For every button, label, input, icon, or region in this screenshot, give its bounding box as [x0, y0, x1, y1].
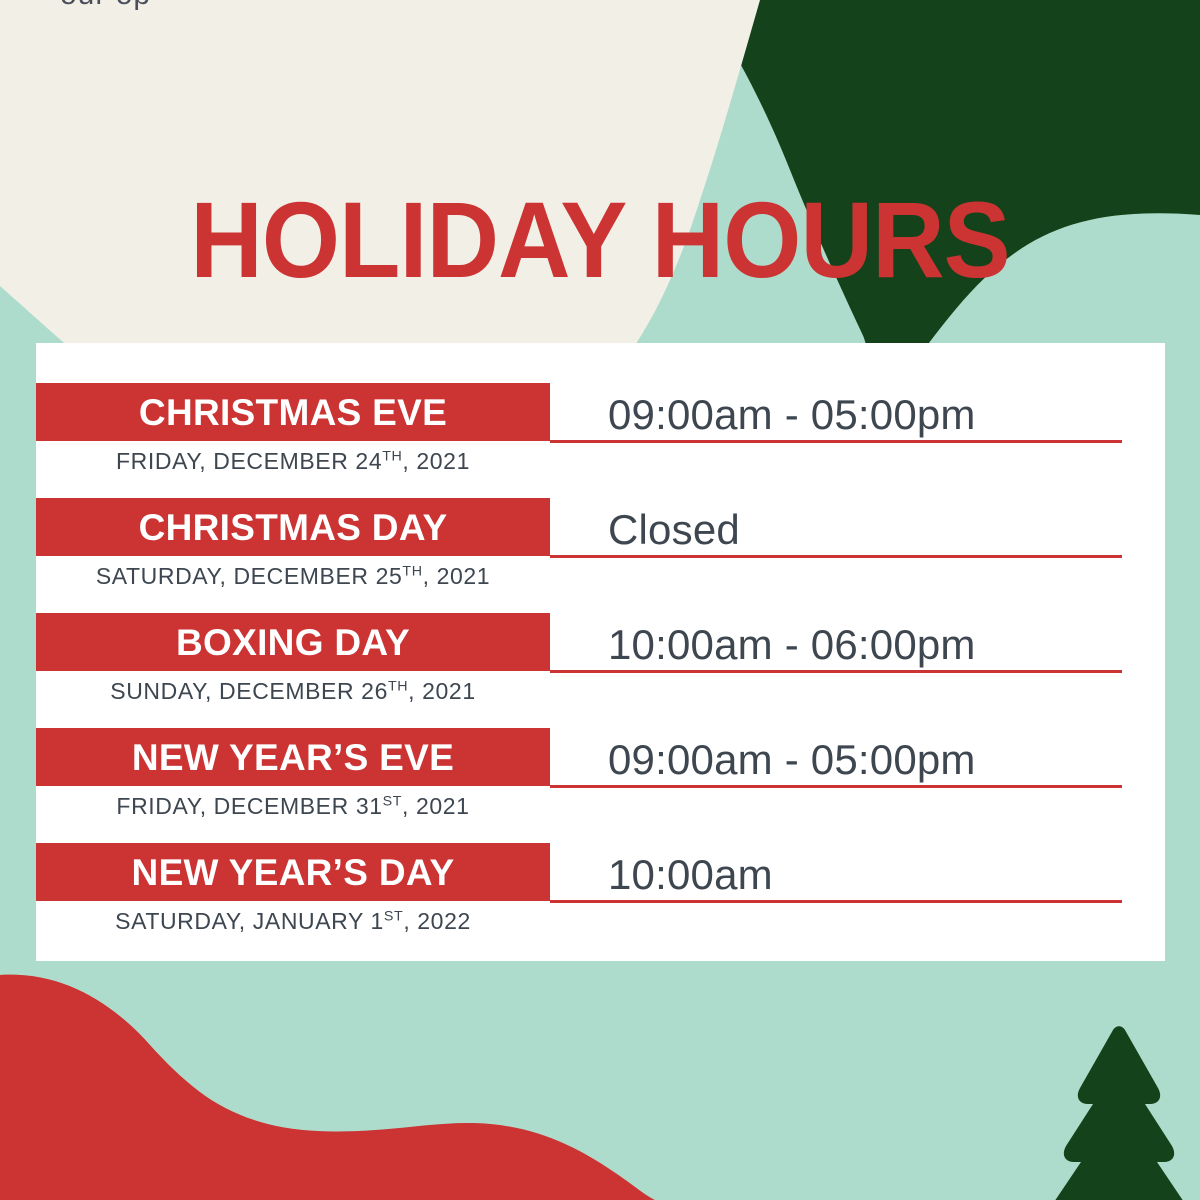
- day-date-ordinal: ST: [384, 908, 403, 924]
- christmas-tree-icon: [1047, 1026, 1191, 1200]
- hours-row: NEW YEAR’S DAY SATURDAY, JANUARY 1ST, 20…: [36, 843, 1165, 958]
- page-title: HOLIDAY HOURS: [42, 186, 1158, 294]
- hours-row: NEW YEAR’S EVE FRIDAY, DECEMBER 31ST, 20…: [36, 728, 1165, 843]
- day-date-ordinal: TH: [402, 563, 422, 579]
- hours-row: BOXING DAY SUNDAY, DECEMBER 26TH, 2021 1…: [36, 613, 1165, 728]
- clipped-top-text: our op: [60, 0, 151, 12]
- hours-row: CHRISTMAS EVE FRIDAY, DECEMBER 24TH, 202…: [36, 383, 1165, 498]
- day-date: FRIDAY, DECEMBER 24TH, 2021: [36, 450, 550, 473]
- day-date-prefix: SATURDAY, DECEMBER 25: [96, 563, 403, 589]
- day-date-prefix: SATURDAY, JANUARY 1: [115, 908, 384, 934]
- hours-row-time-group: 09:00am - 05:00pm: [550, 383, 1122, 443]
- day-name-banner: CHRISTMAS EVE: [36, 383, 550, 441]
- day-date-year: , 2021: [408, 678, 476, 704]
- day-date-ordinal: ST: [383, 793, 402, 809]
- day-time: 09:00am - 05:00pm: [608, 739, 976, 781]
- day-time: 09:00am - 05:00pm: [608, 394, 976, 436]
- hours-row-time-group: 10:00am - 06:00pm: [550, 613, 1122, 673]
- hours-row-time-group: 09:00am - 05:00pm: [550, 728, 1122, 788]
- day-name-banner: BOXING DAY: [36, 613, 550, 671]
- day-date-prefix: SUNDAY, DECEMBER 26: [110, 678, 388, 704]
- hours-card: CHRISTMAS EVE FRIDAY, DECEMBER 24TH, 202…: [36, 343, 1165, 961]
- day-name: NEW YEAR’S DAY: [132, 854, 455, 891]
- day-name-banner: CHRISTMAS DAY: [36, 498, 550, 556]
- day-date: SATURDAY, JANUARY 1ST, 2022: [36, 910, 550, 933]
- day-name-banner: NEW YEAR’S DAY: [36, 843, 550, 901]
- day-date-year: , 2021: [402, 448, 470, 474]
- day-date-year: , 2021: [402, 793, 470, 819]
- hours-row-label-group: CHRISTMAS DAY SATURDAY, DECEMBER 25TH, 2…: [36, 498, 550, 588]
- day-name: CHRISTMAS DAY: [139, 509, 448, 546]
- day-date-prefix: FRIDAY, DECEMBER 24: [116, 448, 382, 474]
- day-date-prefix: FRIDAY, DECEMBER 31: [116, 793, 382, 819]
- holiday-hours-poster: our op HOLIDAY HOURS CHRISTMAS EVE FRIDA…: [0, 0, 1200, 1200]
- hours-row-time-group: Closed: [550, 498, 1122, 558]
- hours-row-label-group: NEW YEAR’S DAY SATURDAY, JANUARY 1ST, 20…: [36, 843, 550, 933]
- day-date-year: , 2021: [423, 563, 491, 589]
- day-time: 10:00am - 06:00pm: [608, 624, 976, 666]
- hours-row-time-group: 10:00am: [550, 843, 1122, 903]
- hours-row-label-group: CHRISTMAS EVE FRIDAY, DECEMBER 24TH, 202…: [36, 383, 550, 473]
- day-date-year: , 2022: [403, 908, 471, 934]
- day-name: BOXING DAY: [176, 624, 410, 661]
- day-name: CHRISTMAS EVE: [139, 394, 447, 431]
- day-date: FRIDAY, DECEMBER 31ST, 2021: [36, 795, 550, 818]
- hours-list: CHRISTMAS EVE FRIDAY, DECEMBER 24TH, 202…: [36, 343, 1165, 961]
- hours-row: CHRISTMAS DAY SATURDAY, DECEMBER 25TH, 2…: [36, 498, 1165, 613]
- red-wave-shape-body: [0, 975, 720, 1200]
- day-time: Closed: [608, 509, 740, 551]
- day-date: SATURDAY, DECEMBER 25TH, 2021: [36, 565, 550, 588]
- day-date-ordinal: TH: [388, 678, 408, 694]
- day-name-banner: NEW YEAR’S EVE: [36, 728, 550, 786]
- day-date-ordinal: TH: [382, 448, 402, 464]
- hours-row-label-group: NEW YEAR’S EVE FRIDAY, DECEMBER 31ST, 20…: [36, 728, 550, 818]
- day-name: NEW YEAR’S EVE: [132, 739, 454, 776]
- day-date: SUNDAY, DECEMBER 26TH, 2021: [36, 680, 550, 703]
- hours-row-label-group: BOXING DAY SUNDAY, DECEMBER 26TH, 2021: [36, 613, 550, 703]
- day-time: 10:00am: [608, 854, 773, 896]
